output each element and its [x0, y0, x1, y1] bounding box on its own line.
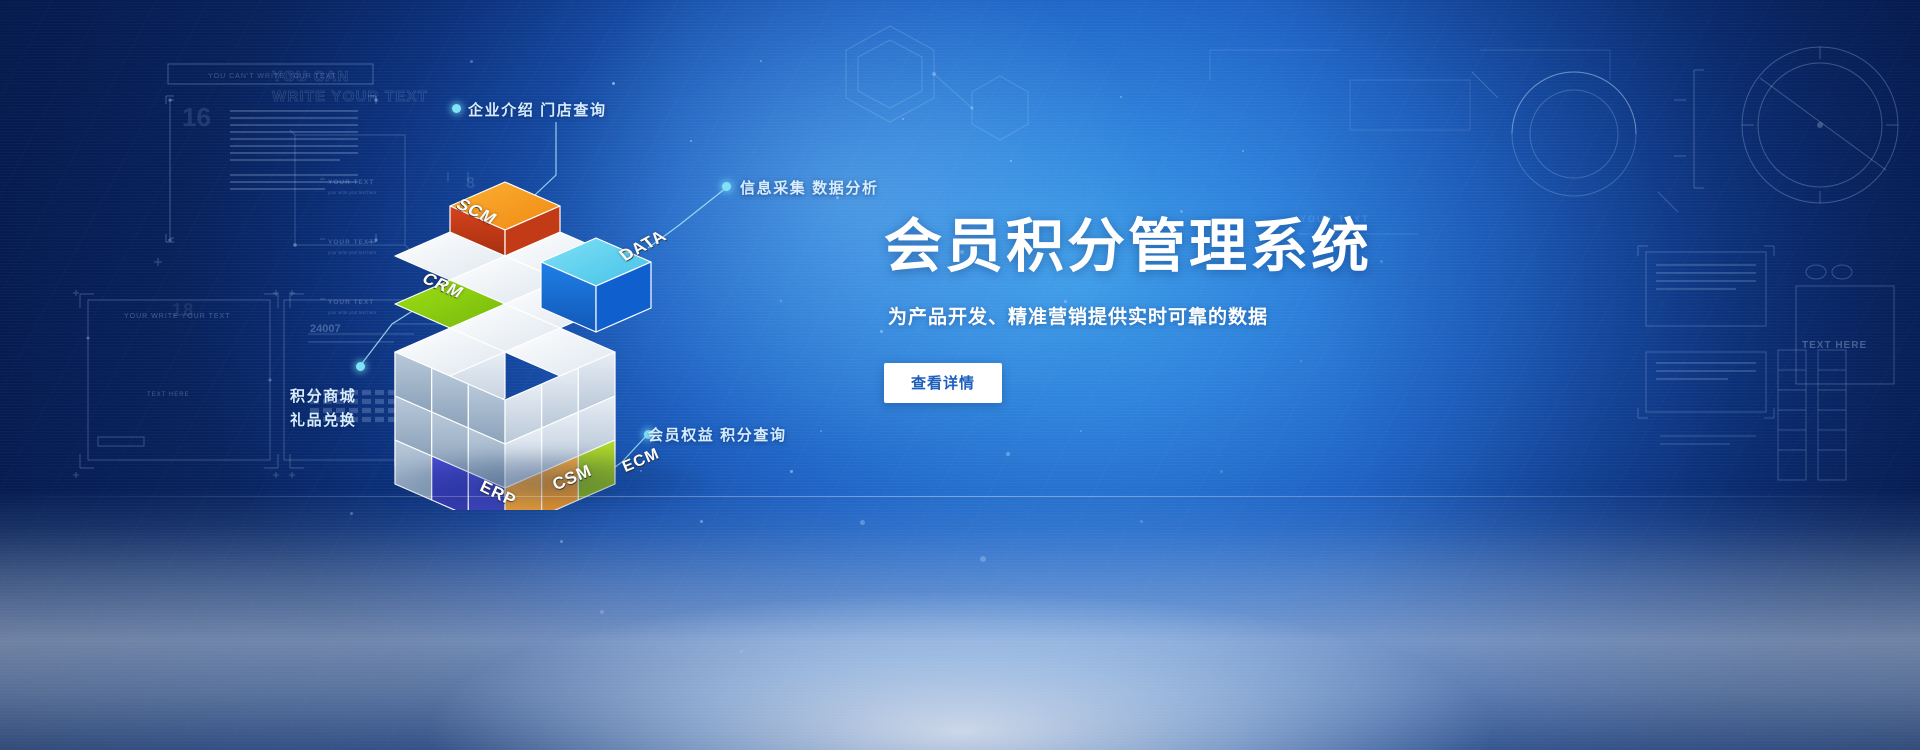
floor-highlight — [210, 520, 1710, 750]
callout-dot-bottom-left — [356, 362, 365, 371]
page-subtitle: 为产品开发、精准营销提供实时可靠的数据 — [888, 302, 1704, 329]
view-details-button[interactable]: 查看详情 — [884, 363, 1002, 403]
callout-label-bottom-left-line1: 积分商城 — [290, 385, 356, 406]
rubiks-cube-illustration: SCM DATA CRM ERP CSM ECM — [350, 150, 730, 510]
view-details-button-label: 查看详情 — [911, 372, 975, 393]
hero-banner: YOU CAN'T WRITE YOUR TEXT 16 — [0, 0, 1920, 750]
callout-label-top-right: 信息采集 数据分析 — [740, 177, 879, 198]
callout-label-bottom-left-line2: 礼品兑换 — [290, 409, 356, 430]
callout-dot-top-left — [452, 104, 461, 113]
callout-label-bottom-right: 会员权益 积分查询 — [648, 424, 787, 445]
hero-text-block: 会员积分管理系统 为产品开发、精准营销提供实时可靠的数据 查看详情 — [884, 215, 1704, 403]
callout-label-top-left: 企业介绍 门店查询 — [468, 99, 607, 120]
page-title: 会员积分管理系统 — [884, 215, 1704, 280]
callout-dot-top-right — [722, 182, 731, 191]
